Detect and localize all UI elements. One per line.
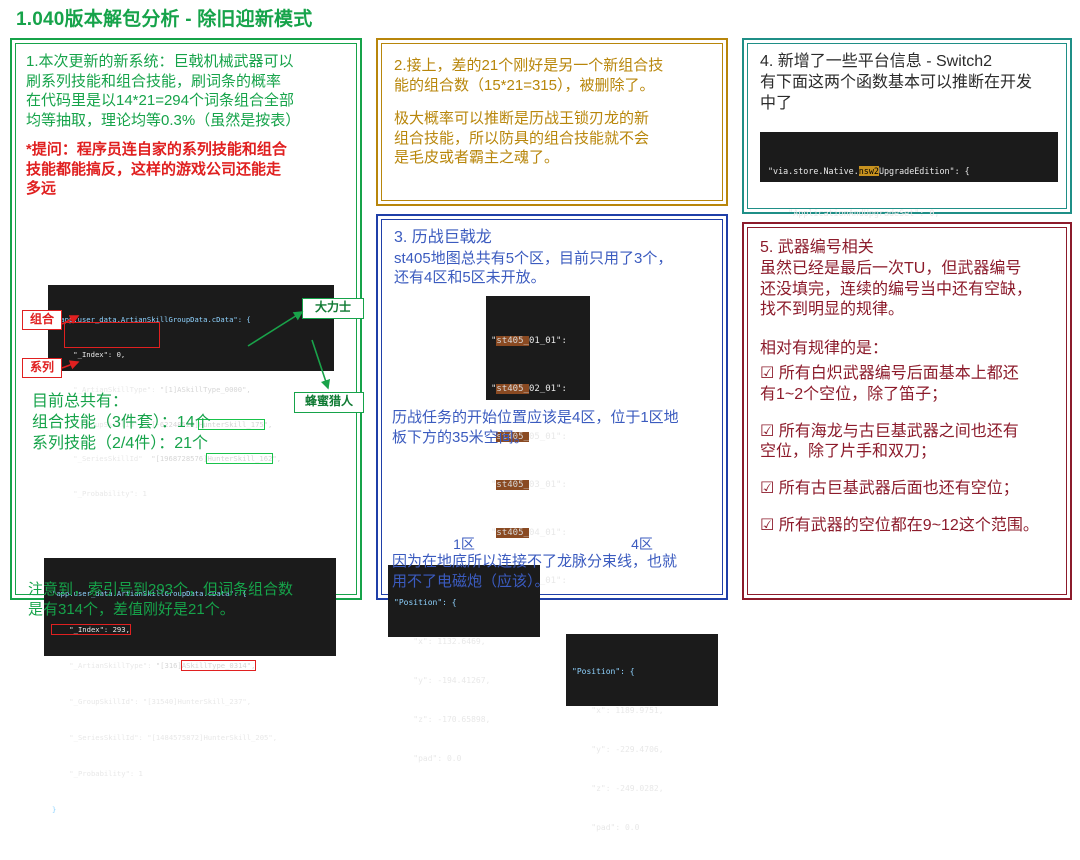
- label-honey-hunter: 蜂蜜猎人: [294, 392, 364, 413]
- panel-platform-switch2: 4. 新增了一些平台信息 - Switch2 有下面这两个函数基本可以推断在开发…: [742, 38, 1072, 214]
- code1-line5-prefix: "[1968728576]: [151, 454, 207, 463]
- posL-y: "y": -194.41267,: [394, 676, 490, 685]
- zone-row: "st405_03_01":: [491, 477, 590, 493]
- totals-heading: 目前总共有：: [32, 392, 211, 413]
- posL-pad: "pad": 0.0: [394, 754, 461, 763]
- p4-code1-suffix: UpgradeEdition": {: [879, 166, 970, 176]
- posR-pad: "pad": 0.0: [572, 823, 639, 832]
- page-title: 1.040版本解包分析 - 除旧迎新模式: [16, 4, 312, 31]
- p4-code1-prefix: "via.store.Native.: [768, 166, 859, 176]
- p4-code1-line2: "ApplicationAndUpgradeSet": 0,: [768, 208, 939, 218]
- zone-prefix-0: st405_: [496, 336, 529, 346]
- posL-z: "z": -170.65898,: [394, 715, 490, 724]
- zone-suffix-0: 01_01: [529, 336, 556, 346]
- panel3-paragraph1: st405地图总共有5个区，目前只用了3个， 还有4区和5区未开放。: [394, 249, 714, 288]
- panel3-paragraph3: 因为在地底所以连接不了龙脉分束线，也就 用不了电磁炮（应该）。: [392, 552, 677, 591]
- zone-suffix-1: 02_01: [529, 384, 556, 394]
- panel5-heading: 5. 武器编号相关: [760, 238, 1060, 259]
- panel3-paragraph2: 历战任务的开始位置应该是4区，位于1区地 板下方的35米空间。: [392, 408, 679, 447]
- panel5-paragraph1: 虽然已经是最后一次TU，但武器编号 还没填完，连续的编号当中还有空缺， 找不到明…: [760, 259, 1060, 321]
- zone-row: "st405_01_01":: [491, 333, 590, 349]
- code1-line5-highlight: HunterSkill_162: [207, 454, 272, 463]
- panel1-paragraph2: *提问：程序员连自家的系列技能和组合 技能都能搞反，这样的游戏公司还能走 多远: [26, 140, 350, 199]
- code2-line3-highlight: ASkillType_0314",: [182, 661, 256, 670]
- caption-zone4: 4区: [566, 534, 718, 554]
- code-block-st405-zones: "st405_01_01": "st405_02_01": "st405_05_…: [486, 296, 590, 400]
- posR-z: "z": -249.0282,: [572, 784, 664, 793]
- code1-line6: "_Probability": 1: [56, 489, 147, 498]
- posL-x: "x": 1132.6469,: [394, 637, 486, 646]
- panel-weapon-numbering: 5. 武器编号相关 虽然已经是最后一次TU，但武器编号 还没填完，连续的编号当中…: [742, 222, 1072, 600]
- code2-line7: }: [52, 805, 56, 814]
- totals-line2: 系列技能（2/4件）：21个: [32, 434, 211, 455]
- zone-suffix-3: 03_01: [529, 480, 556, 490]
- zone-row: "st405_02_01":: [491, 381, 590, 397]
- label-group: 组合: [22, 310, 62, 330]
- code2-line6: "_Probability": 1: [52, 769, 143, 778]
- label-strongman: 大力士: [302, 298, 364, 319]
- panel2-paragraph1: 2.接上，差的21个刚好是另一个新组合技 能的组合数（15*21=315），被删…: [394, 56, 714, 95]
- posR-x: "x": 1189.9751,: [572, 706, 664, 715]
- panel5-bullet-2: ☑ 所有古巨基武器后面也还有空位；: [760, 479, 1060, 500]
- code2-line3-prefix: "[316]: [156, 661, 182, 670]
- code2-line2-highlight: "_Index": 293,: [52, 625, 130, 634]
- panel5-paragraph2: 相对有规律的是：: [760, 339, 1060, 360]
- code2-line5: "_SeriesSkillId": "[1484575872]HunterSki…: [52, 733, 277, 742]
- slide-canvas: 1.040版本解包分析 - 除旧迎新模式 1.本次更新的新系统：巨戟机械武器可以…: [0, 0, 1080, 606]
- code2-line3-key: "_ArtianSkillType":: [52, 661, 156, 670]
- panel1-paragraph1: 1.本次更新的新系统：巨戟机械武器可以 刷系列技能和组合技能，刷词条的概率 在代…: [26, 52, 350, 130]
- zone-prefix-1: st405_: [496, 384, 529, 394]
- panel4-heading: 4. 新增了一些平台信息 - Switch2: [760, 52, 1060, 73]
- zone-prefix-3: st405_: [496, 480, 529, 490]
- panel2-paragraph2: 极大概率可以推断是历战王锁刃龙的新 组合技能，所以防具的组合技能就不会 是毛皮或…: [394, 109, 714, 168]
- code1-line4-suffix: ",: [264, 420, 273, 429]
- panel5-bullet-0: ☑ 所有白炽武器编号后面基本上都还 有1~2个空位，除了笛子；: [760, 364, 1060, 406]
- code1-line2: "_Index": 0,: [56, 350, 125, 359]
- p4-code1-highlight: nsw2: [859, 166, 879, 176]
- code1-line5-suffix: ",: [272, 454, 281, 463]
- totals-line1: 组合技能（3件套）：14个: [32, 413, 211, 434]
- panel5-bullet-1: ☑ 所有海龙与古巨基武器之间也还有 空位，除了片手和双刀；: [760, 422, 1060, 464]
- code-block-nsw2-upgrade: "via.store.Native.nsw2UpgradeEdition": {…: [760, 132, 1058, 182]
- panel5-bullet-3: ☑ 所有武器的空位都在9~12这个范围。: [760, 516, 1060, 537]
- panel1-footer: 注意到，索引号到293个，但词条组合数 是有314个，差值刚好是21个。: [28, 580, 293, 619]
- panel-deleted-combo: 2.接上，差的21个刚好是另一个新组合技 能的组合数（15*21=315），被删…: [376, 38, 728, 206]
- panel4-paragraph1: 有下面这两个函数基本可以推断在开发 中了: [760, 73, 1060, 115]
- label-series: 系列: [22, 358, 62, 378]
- panel-new-system: 1.本次更新的新系统：巨戟机械武器可以 刷系列技能和组合技能，刷词条的概率 在代…: [10, 38, 362, 600]
- code2-line4: "_GroupSkillId": "[31540]HunterSkill_237…: [52, 697, 251, 706]
- code-block-position-zone4: "Position": { "x": 1189.9751, "y": -229.…: [566, 634, 718, 706]
- posR-y: "y": -229.4706,: [572, 745, 664, 754]
- panel-lizhan-judilong: 3. 历战巨戟龙 st405地图总共有5个区，目前只用了3个， 还有4区和5区未…: [376, 214, 728, 600]
- highlight-box-skill-ids: [64, 322, 160, 348]
- caption-zone1: 1区: [388, 534, 540, 554]
- posR-title: "Position": {: [572, 667, 635, 676]
- panel3-heading: 3. 历战巨戟龙: [394, 228, 714, 249]
- code1-line5-key: "_SeriesSkillId": [56, 454, 151, 463]
